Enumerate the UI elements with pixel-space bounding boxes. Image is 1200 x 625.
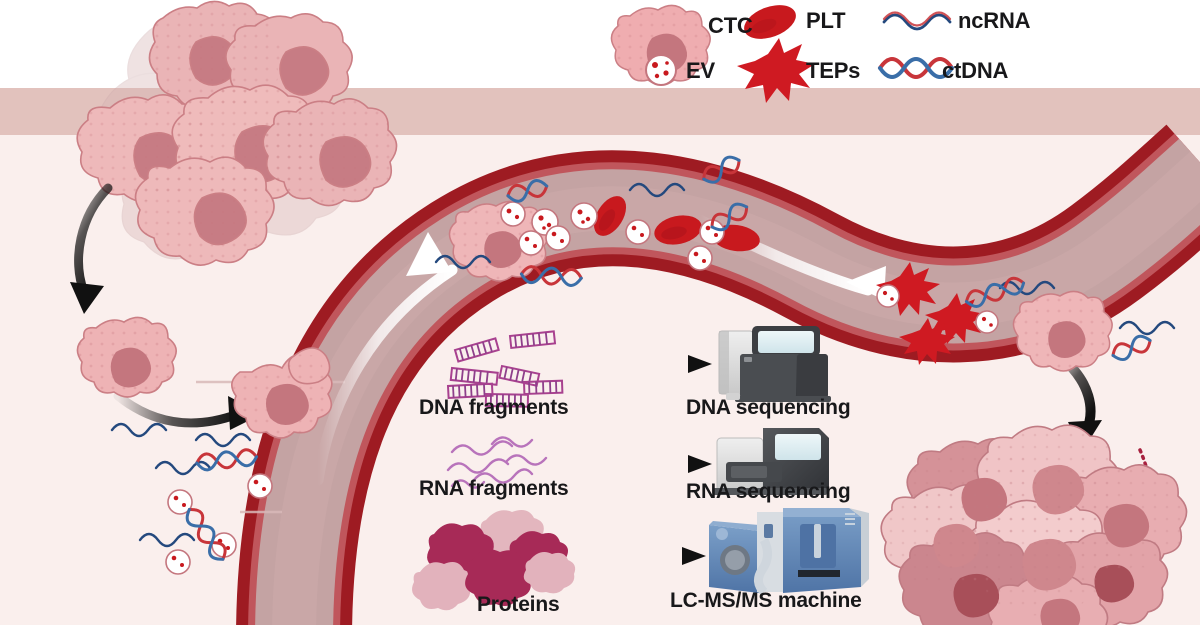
legend-label-plt: PLT: [806, 10, 845, 32]
dna-sequencer-icon: [719, 326, 831, 402]
analyte-label-rna-fragments: RNA fragments: [419, 478, 568, 499]
legend-label-ctdna: ctDNA: [942, 60, 1008, 82]
legend-label-ncrna: ncRNA: [958, 10, 1030, 32]
instrument-label-dna-sequencing: DNA sequencing: [686, 397, 850, 418]
analyte-label-dna-fragments: DNA fragments: [419, 397, 568, 418]
instrument-label-rna-sequencing: RNA sequencing: [686, 481, 850, 502]
analyte-label-proteins: Proteins: [477, 594, 559, 615]
legend-label-ctc: CTC: [708, 15, 753, 37]
instrument-label-lc-ms-ms: LC-MS/MS machine: [670, 590, 862, 611]
legend-label-teps: TEPs: [806, 60, 860, 82]
ev-legend-icon: [646, 55, 676, 85]
diagram-svg: [0, 0, 1200, 625]
figure-canvas: CTC EV PLT TEPs ncRNA ctDNA DNA fragment…: [0, 0, 1200, 625]
legend-label-ev: EV: [686, 60, 715, 82]
